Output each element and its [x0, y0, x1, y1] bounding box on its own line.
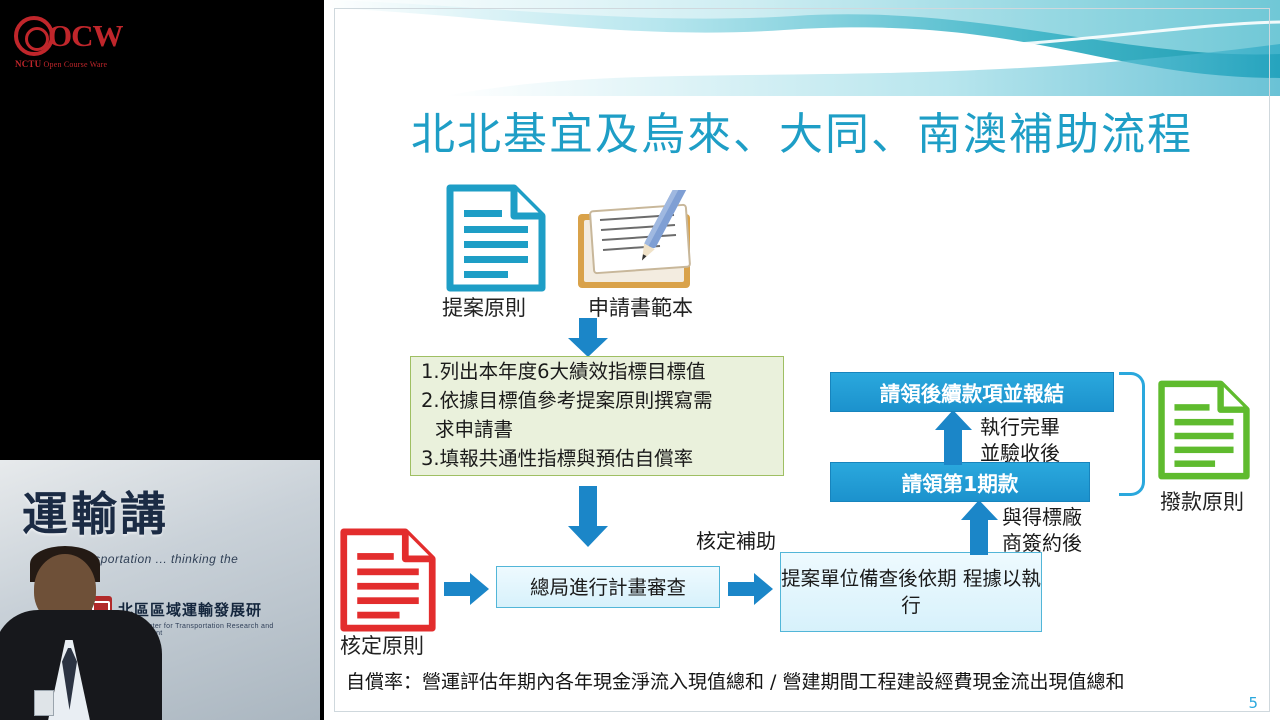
requirement-item-2: 2.依據目標值參考提案原則撰寫需 — [411, 386, 783, 415]
document-icon-green-label: 撥款原則 — [1160, 486, 1244, 516]
document-icon-red-label: 核定原則 — [340, 630, 424, 660]
after-contract-label: 與得標廠 商簽約後 — [1002, 504, 1082, 556]
speaker-video[interactable]: 運輸講 - Transportation ... thinking the 北區… — [0, 460, 320, 720]
arrow-right-to-execute — [728, 572, 774, 611]
logo-wordmark: OCW — [48, 17, 123, 55]
requirement-item-2-cont: 求申請書 — [411, 415, 783, 444]
ocw-logo: OCW NCTU Open Course Ware — [12, 14, 172, 70]
branding-panel: OCW NCTU Open Course Ware — [0, 0, 320, 460]
footnote: 自償率：營運評估年期內各年現金淨流入現值總和 / 營建期間工程建設經費現金流出現… — [346, 667, 1264, 694]
requirements-box: 1.列出本年度6大績效指標目標值 2.依據目標值參考提案原則撰寫需 求申請書 3… — [410, 356, 784, 476]
arrow-up-to-final-payment — [934, 410, 974, 471]
slide-title: 北北基宜及烏來、大同、南澳補助流程 — [344, 98, 1260, 162]
slide-canvas: 北北基宜及烏來、大同、南澳補助流程 提案原則 — [324, 0, 1280, 720]
screenshot-root: OCW NCTU Open Course Ware 運輸講 - Transpor… — [0, 0, 1280, 720]
arrow-right-to-review — [444, 572, 490, 611]
arrow-up-to-first-payment — [960, 500, 1000, 561]
requirement-item-1: 1.列出本年度6大績效指標目標值 — [411, 357, 783, 386]
approve-label: 核定補助 — [696, 528, 776, 554]
requirement-item-3: 3.填報共通性指標與預估自償率 — [411, 444, 783, 473]
document-icon-green — [1156, 380, 1252, 480]
logo-subtitle: NCTU Open Course Ware — [15, 59, 107, 69]
clipboard-pen-icon — [574, 190, 710, 294]
execute-box: 提案單位備查後依期 程據以執行 — [780, 552, 1042, 632]
document-icon-blue-label: 提案原則 — [442, 292, 526, 322]
document-icon-blue — [444, 184, 548, 292]
after-completion-label: 執行完畢 並驗收後 — [980, 414, 1060, 466]
final-payment-box: 請領後續款項並報結 — [830, 372, 1114, 412]
payment-group-brace — [1119, 372, 1145, 496]
page-number: 5 — [1248, 694, 1258, 712]
arrow-down-to-review — [566, 486, 610, 553]
video-banner-title: 運輸講 — [22, 478, 169, 544]
slide-header-decoration — [324, 0, 1280, 96]
review-box: 總局進行計畫審查 — [496, 566, 720, 608]
document-icon-red — [338, 528, 438, 632]
speaker-badge — [34, 690, 54, 716]
